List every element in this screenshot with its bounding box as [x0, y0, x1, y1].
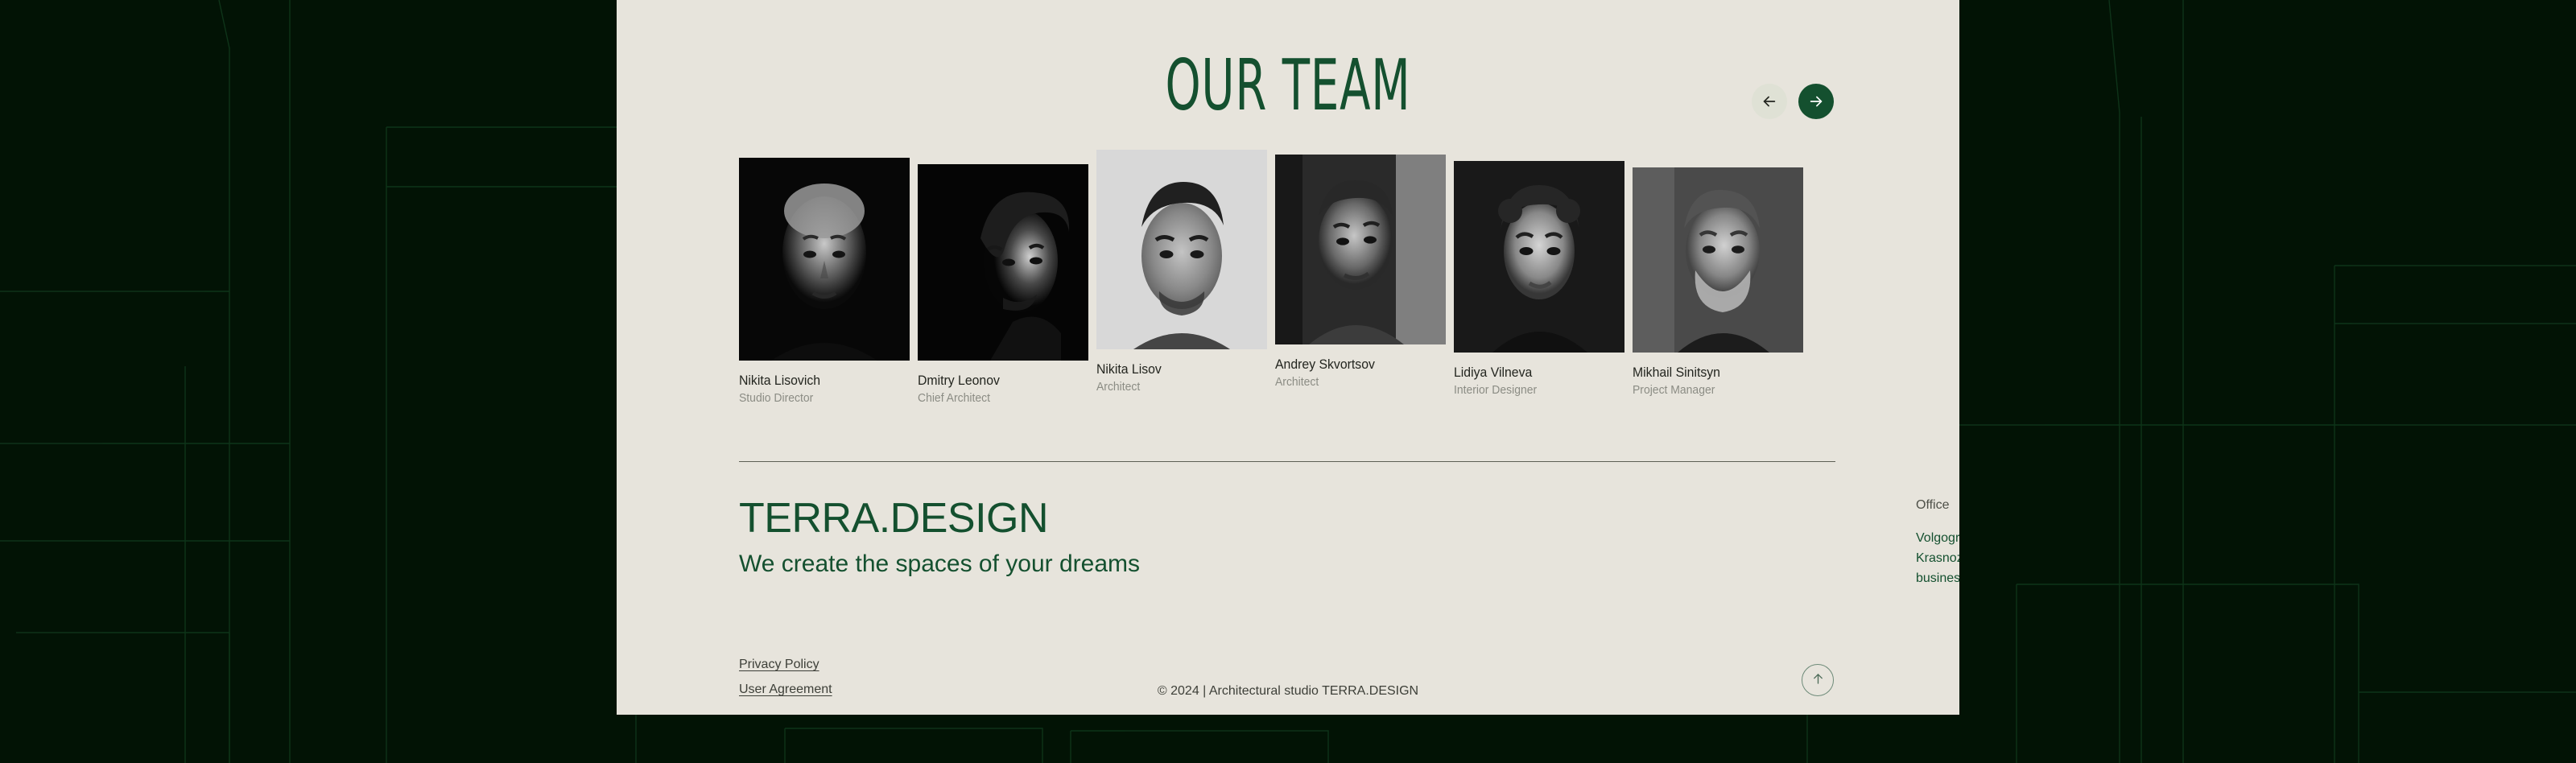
arrow-right-icon: [1807, 93, 1825, 110]
team-section-header: OUR TEAM: [617, 0, 1959, 153]
arrow-left-icon: [1761, 93, 1778, 110]
team-member-name: Nikita Lisovich: [739, 372, 898, 389]
team-member-name: Andrey Skvortsov: [1275, 356, 1434, 373]
arrow-up-icon: [1810, 671, 1826, 689]
brand-tagline: We create the spaces of your dreams: [739, 551, 1140, 577]
team-member-photo: [1454, 161, 1624, 353]
team-member-meta: Nikita Lisovich Studio Director: [739, 372, 910, 406]
team-member-photo: [1275, 155, 1446, 344]
site-footer: TERRA.DESIGN We create the spaces of you…: [617, 461, 1959, 715]
copyright-text: © 2024 | Architectural studio TERRA.DESI…: [1158, 684, 1418, 699]
office-address: Volgograd city, Krasnoznamenskaya street…: [1916, 529, 1959, 588]
carousel-prev-button[interactable]: [1752, 84, 1787, 119]
office-address-line: Volgograd city,: [1916, 529, 1959, 549]
carousel-next-button[interactable]: [1798, 84, 1834, 119]
office-address-line: Krasnoznamenskaya street 44,: [1916, 549, 1959, 569]
footer-office-column: Office Volgograd city, Krasnoznamenskaya…: [1916, 497, 1959, 589]
user-agreement-link[interactable]: User Agreement: [739, 683, 832, 696]
team-member-role: Project Manager: [1633, 382, 1791, 398]
team-member-meta: Andrey Skvortsov Architect: [1275, 356, 1446, 390]
team-member-name: Dmitry Leonov: [918, 372, 1076, 389]
team-member-photo: [1633, 167, 1803, 353]
page-title: OUR TEAM: [1165, 46, 1410, 127]
footer-brand: TERRA.DESIGN We create the spaces of you…: [739, 497, 1140, 577]
team-member-role: Architect: [1096, 379, 1255, 395]
team-member-meta: Dmitry Leonov Chief Architect: [918, 372, 1088, 406]
team-member-photo: [1096, 150, 1267, 349]
team-member-card[interactable]: Lidiya Vilneva Interior Designer: [1454, 161, 1624, 398]
content-panel: OUR TEAM: [617, 0, 1959, 715]
team-member-card[interactable]: Nikita Lisov Architect: [1096, 150, 1267, 395]
team-member-role: Architect: [1275, 374, 1434, 390]
office-label: Office: [1916, 497, 1959, 513]
office-address-line: business center "Lotos": [1916, 569, 1959, 589]
brand-name: TERRA.DESIGN: [739, 497, 1140, 539]
team-member-name: Mikhail Sinitsyn: [1633, 364, 1791, 381]
privacy-policy-link[interactable]: Privacy Policy: [739, 658, 832, 671]
team-member-role: Interior Designer: [1454, 382, 1612, 398]
carousel-nav: [1752, 84, 1834, 119]
team-member-card[interactable]: Andrey Skvortsov Architect: [1275, 155, 1446, 390]
scroll-to-top-button[interactable]: [1802, 664, 1834, 696]
team-member-card[interactable]: Dmitry Leonov Chief Architect: [918, 164, 1088, 406]
team-member-card[interactable]: Nikita Lisovich Studio Director: [739, 158, 910, 406]
team-member-meta: Lidiya Vilneva Interior Designer: [1454, 364, 1624, 398]
team-member-meta: Nikita Lisov Architect: [1096, 361, 1267, 395]
team-member-role: Chief Architect: [918, 390, 1076, 406]
team-member-photo: [918, 164, 1088, 361]
team-member-photo: [739, 158, 910, 361]
team-member-role: Studio Director: [739, 390, 898, 406]
team-member-meta: Mikhail Sinitsyn Project Manager: [1633, 364, 1803, 398]
team-member-name: Nikita Lisov: [1096, 361, 1255, 377]
team-member-name: Lidiya Vilneva: [1454, 364, 1612, 381]
team-carousel[interactable]: Nikita Lisovich Studio Director: [617, 150, 1959, 407]
team-member-card[interactable]: Mikhail Sinitsyn Project Manager: [1633, 167, 1803, 398]
footer-legal-links: Privacy Policy User Agreement: [739, 658, 832, 708]
